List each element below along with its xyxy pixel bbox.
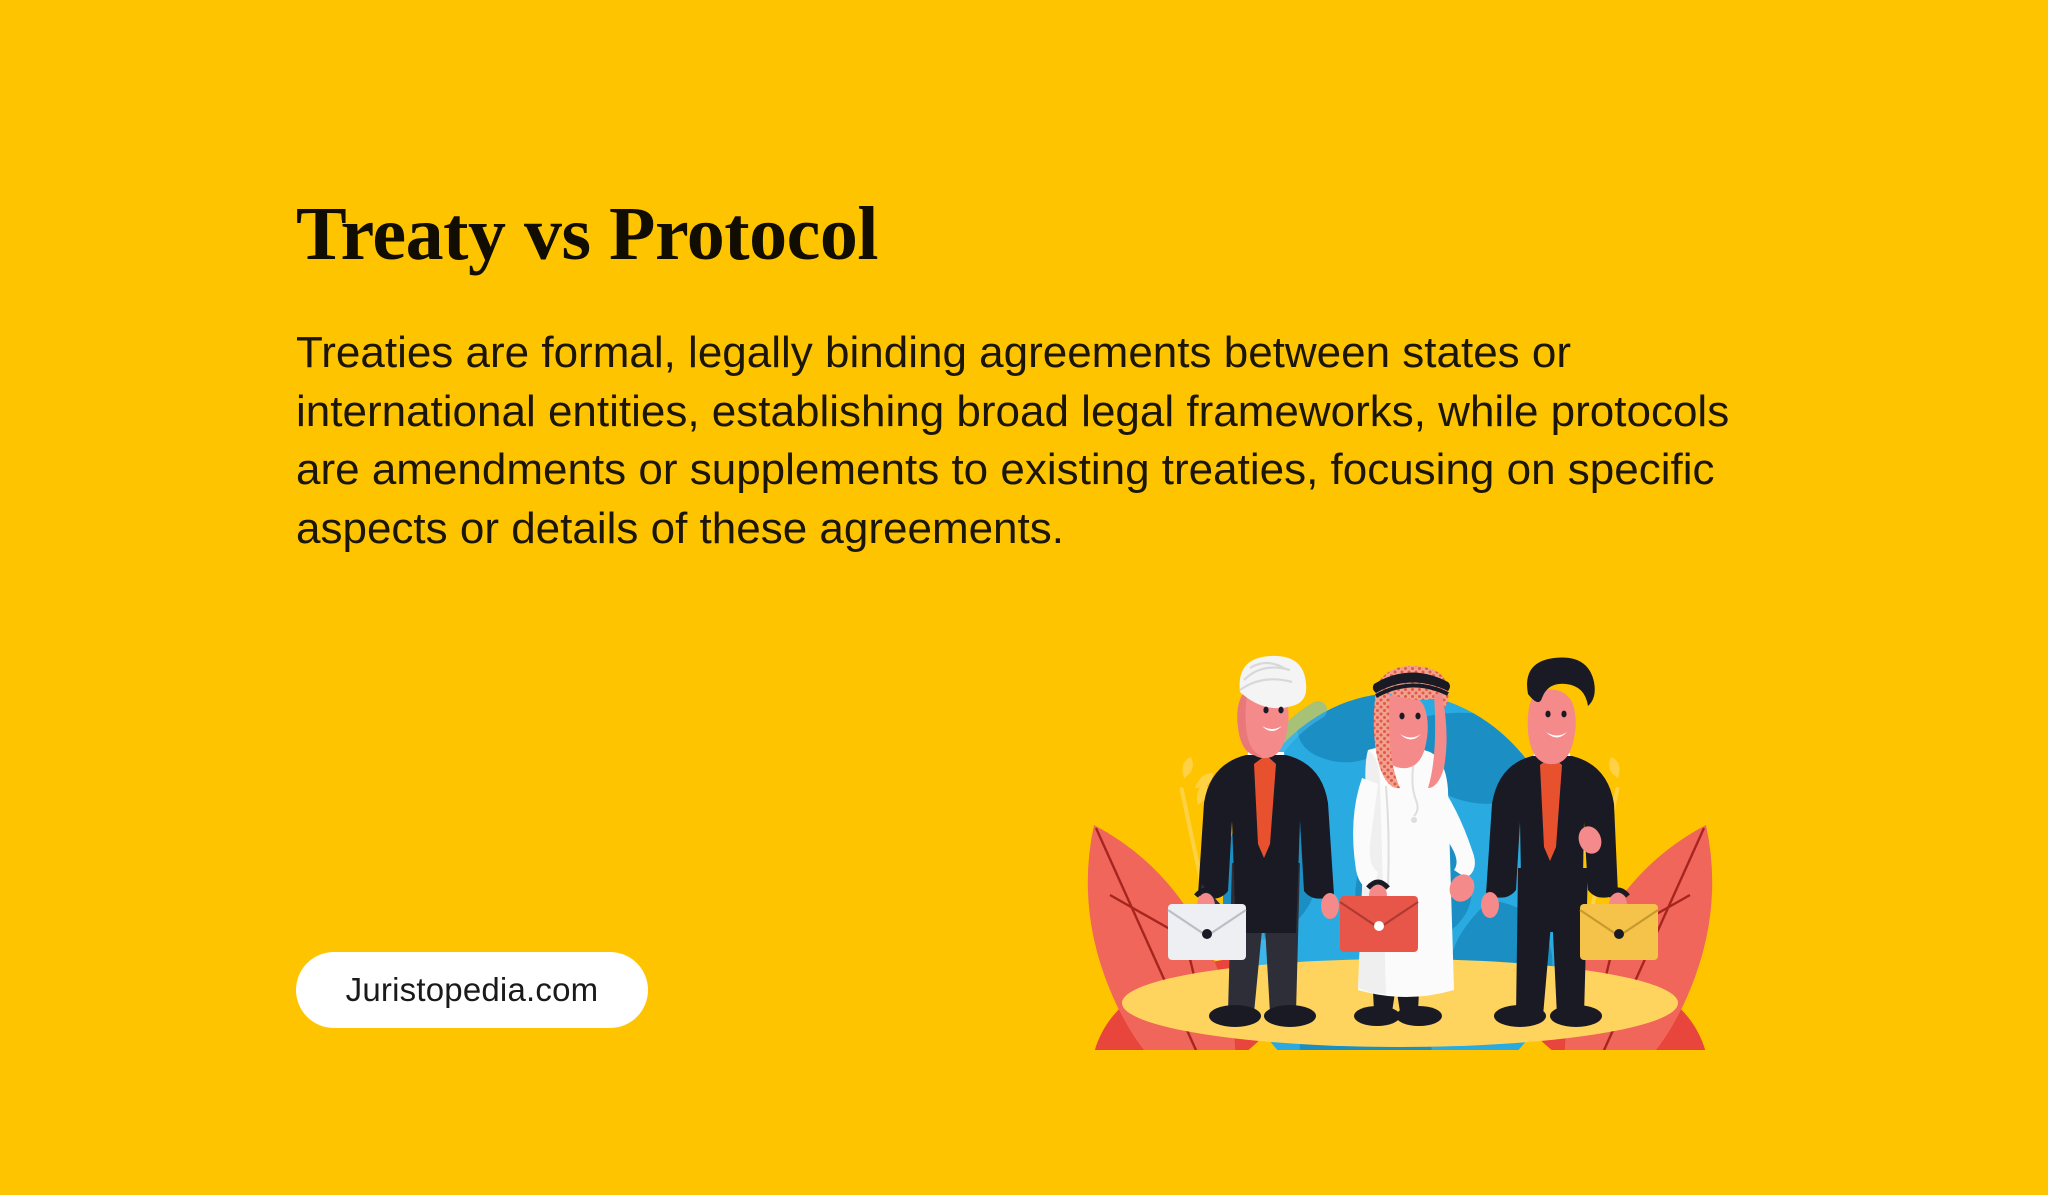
site-logo-badge[interactable]: Juristopedia.com [296,952,648,1028]
hand-right [1321,893,1339,919]
shoe-right [1550,1005,1602,1027]
page-title: Treaty vs Protocol [296,196,1796,272]
three-diplomats-globe-illustration [1050,600,1750,1050]
body-paragraph: Treaties are formal, legally binding agr… [296,324,1776,558]
shoe-left [1209,1005,1261,1027]
shoe-right [1396,1006,1442,1026]
site-logo-label: Juristopedia.com [346,971,599,1009]
shoe-left [1354,1006,1400,1026]
hand-left [1481,892,1499,918]
shoe-right [1264,1005,1316,1027]
shoe-left [1494,1005,1546,1027]
infographic-card: Treaty vs Protocol Treaties are formal, … [0,0,2048,1195]
text-content-block: Treaty vs Protocol Treaties are formal, … [296,196,1796,558]
